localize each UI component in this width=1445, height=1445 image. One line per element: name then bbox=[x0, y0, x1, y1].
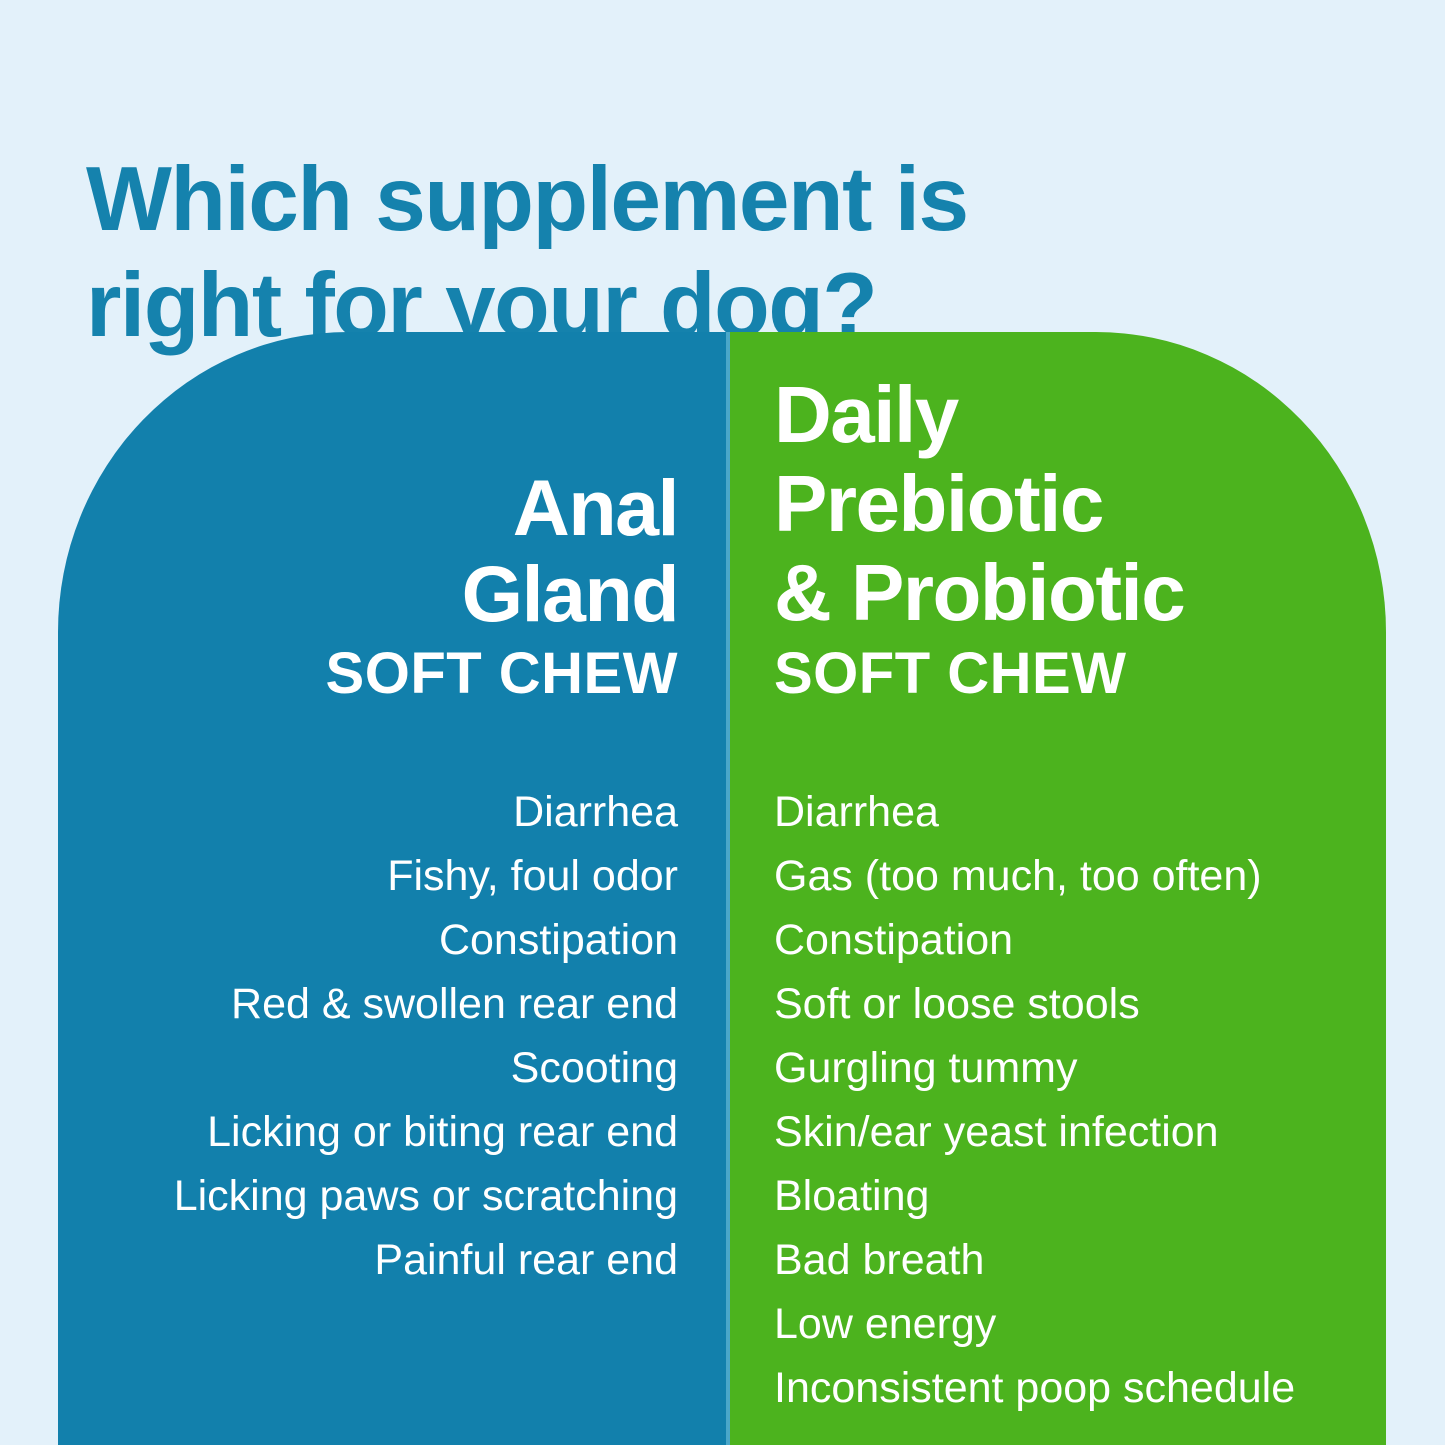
panel-prebiotic-probiotic: Daily Prebiotic & Probiotic SOFT CHEW Di… bbox=[730, 332, 1386, 1445]
list-item: Gurgling tummy bbox=[774, 1036, 1295, 1100]
list-item: Constipation bbox=[174, 908, 678, 972]
list-item: Licking or biting rear end bbox=[174, 1100, 678, 1164]
list-item: Licking paws or scratching bbox=[174, 1164, 678, 1228]
list-item: Scooting bbox=[174, 1036, 678, 1100]
list-item: Low energy bbox=[774, 1292, 1295, 1356]
list-item: Bad breath bbox=[774, 1228, 1295, 1292]
list-item: Diarrhea bbox=[174, 780, 678, 844]
list-item: Inconsistent poop schedule bbox=[774, 1356, 1295, 1420]
panel-left-heading: Anal Gland SOFT CHEW bbox=[326, 465, 678, 707]
product-name-right: Daily Prebiotic & Probiotic bbox=[774, 370, 1184, 637]
list-item: Gas (too much, too often) bbox=[774, 844, 1295, 908]
infographic-canvas: Which supplement is right for your dog? … bbox=[0, 0, 1445, 1445]
list-item: Skin/ear yeast infection bbox=[774, 1100, 1295, 1164]
panel-anal-gland: Anal Gland SOFT CHEW Diarrhea Fishy, fou… bbox=[58, 332, 726, 1445]
list-item: Constipation bbox=[774, 908, 1295, 972]
list-item: Bloating bbox=[774, 1164, 1295, 1228]
list-item: Diarrhea bbox=[774, 780, 1295, 844]
panel-right-heading: Daily Prebiotic & Probiotic SOFT CHEW bbox=[774, 370, 1184, 707]
list-item: Soft or loose stools bbox=[774, 972, 1295, 1036]
comparison-panels: Anal Gland SOFT CHEW Diarrhea Fishy, fou… bbox=[58, 332, 1386, 1445]
product-form-right: SOFT CHEW bbox=[774, 641, 1184, 707]
page-title: Which supplement is right for your dog? bbox=[86, 147, 1266, 359]
symptom-list-left: Diarrhea Fishy, foul odor Constipation R… bbox=[174, 780, 678, 1292]
list-item: Fishy, foul odor bbox=[174, 844, 678, 908]
product-name-left: Anal Gland bbox=[326, 465, 678, 637]
product-form-left: SOFT CHEW bbox=[326, 641, 678, 707]
list-item: Red & swollen rear end bbox=[174, 972, 678, 1036]
symptom-list-right: Diarrhea Gas (too much, too often) Const… bbox=[774, 780, 1295, 1420]
list-item: Painful rear end bbox=[174, 1228, 678, 1292]
